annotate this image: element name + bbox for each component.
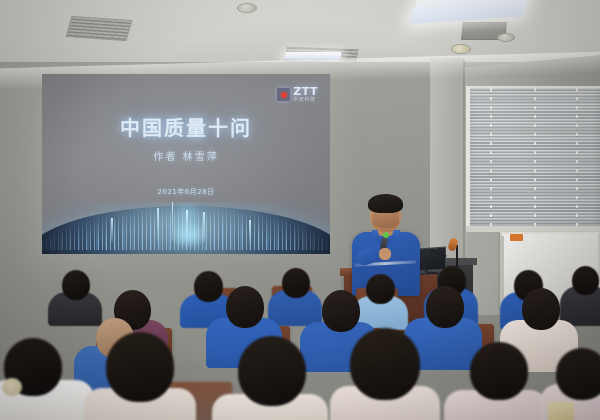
attendee-head	[366, 274, 395, 304]
ceiling-speaker	[237, 3, 257, 13]
attendee-head	[238, 336, 306, 406]
fluorescent-light-panel	[284, 52, 341, 59]
ztt-logo-en: ZTT	[293, 86, 318, 97]
attendee-head	[62, 270, 90, 300]
paper-notebook	[548, 402, 574, 420]
light-beam	[186, 210, 188, 240]
attendee-head	[470, 342, 528, 400]
attendee-head	[522, 288, 560, 330]
slide-date: 2021年6月28日	[42, 187, 330, 197]
window-frame	[466, 86, 600, 230]
ztt-logo-cn: 中天科技	[293, 98, 318, 103]
ztt-logo-mark-icon	[277, 88, 290, 101]
attendee-head	[322, 290, 360, 332]
attendee-head	[426, 286, 464, 328]
projection-screen: ZTT 中天科技 中国质量十问 作者 林雪萍 2021年6月28日	[42, 74, 330, 254]
ztt-logo-text: ZTT 中天科技	[293, 86, 318, 103]
slide-skyline-artwork	[42, 202, 330, 254]
city-tower	[111, 218, 113, 242]
fluorescent-light-panel	[409, 0, 530, 24]
attendee-head	[572, 266, 599, 295]
speaker-hand	[379, 248, 391, 260]
hair-scrunchie	[2, 378, 22, 396]
attendee-head	[226, 286, 264, 328]
light-beam-glow	[169, 222, 209, 248]
whiteboard-magnet-clip	[510, 234, 523, 241]
speaker-hair	[368, 194, 403, 213]
slide-author: 作者 林雪萍	[42, 148, 330, 163]
city-tower	[157, 208, 159, 242]
attendee-head	[106, 332, 174, 402]
attendee-head	[282, 268, 310, 298]
attendee-head	[556, 348, 600, 400]
ceiling-air-vent	[66, 16, 133, 41]
speaker-face-shadow	[372, 212, 399, 228]
ztt-logo-dot-icon	[281, 92, 287, 98]
recessed-downlight	[451, 44, 471, 54]
ceiling-speaker	[497, 33, 515, 42]
attendee-head	[194, 271, 223, 302]
attendee-head	[350, 328, 420, 400]
presentation-room-photo: ZTT 中天科技 中国质量十问 作者 林雪萍 2021年6月28日	[0, 0, 600, 420]
audience	[0, 262, 600, 420]
ztt-logo: ZTT 中天科技	[277, 86, 318, 103]
city-tower	[249, 220, 251, 242]
slide-title: 中国质量十问	[42, 112, 330, 141]
